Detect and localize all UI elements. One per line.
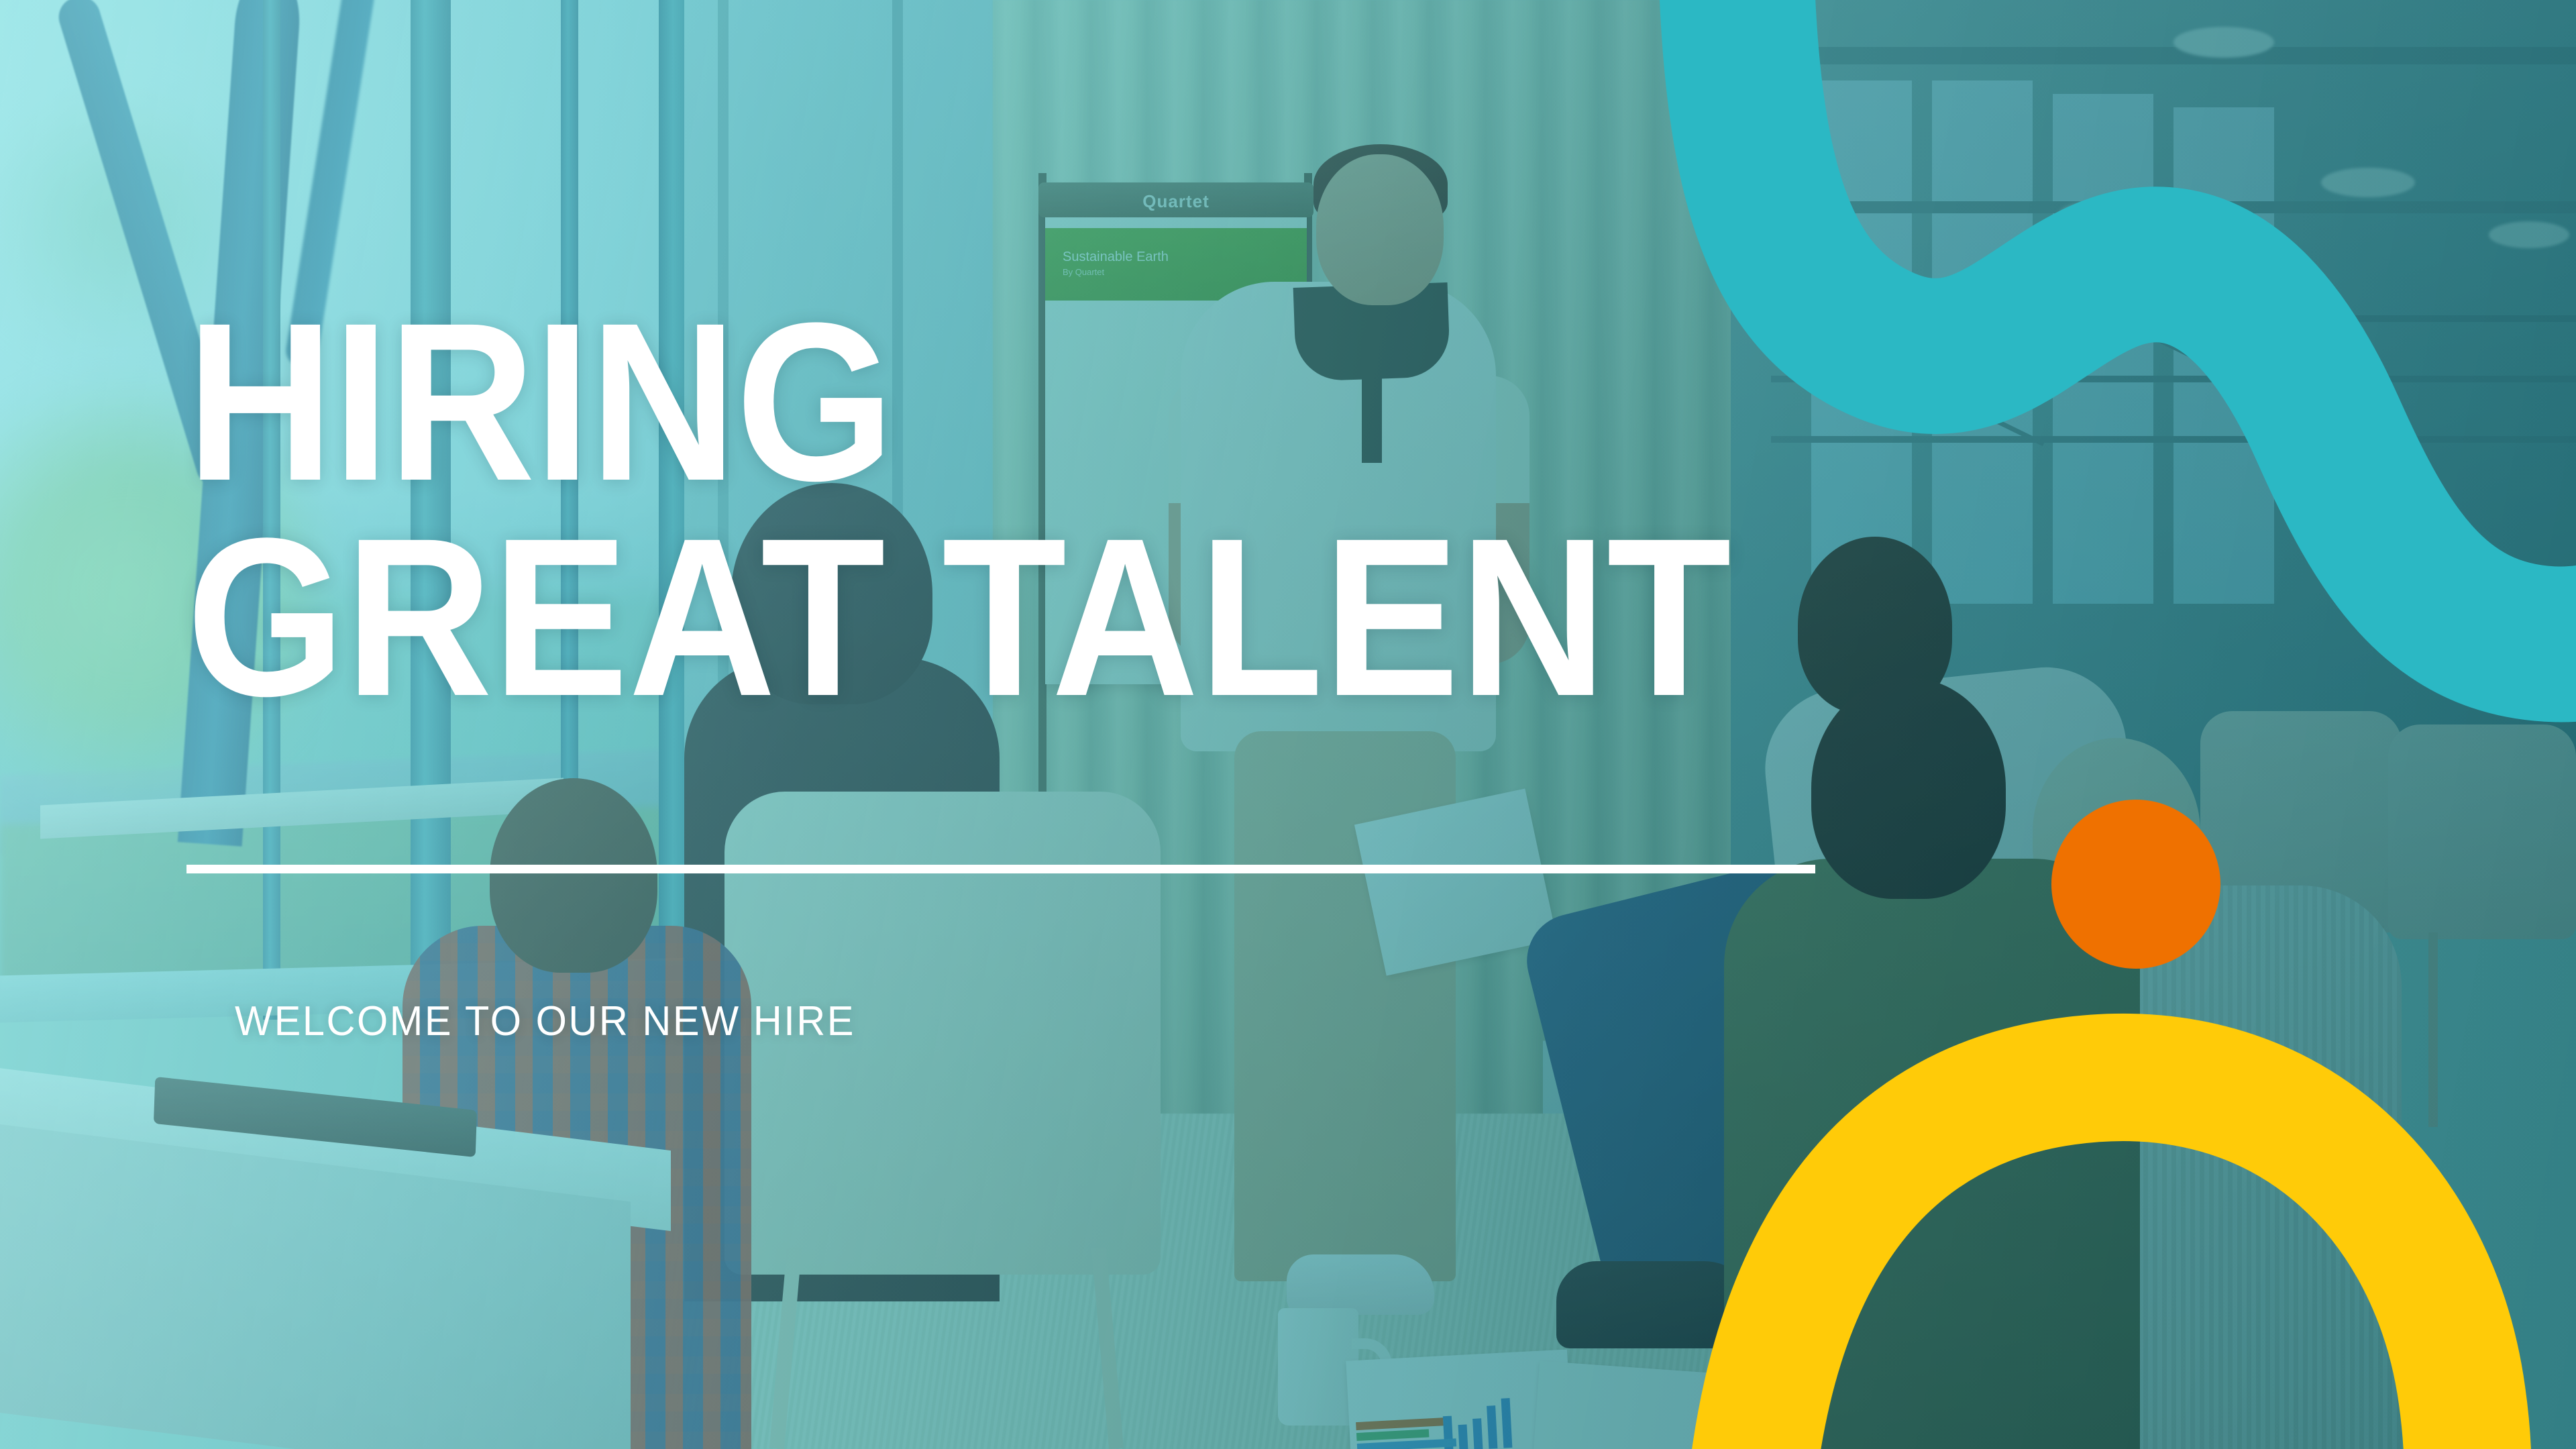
headline-line-2: GREAT TALENT (186, 511, 1731, 726)
divider-rule (186, 865, 1815, 873)
headline-line-1: HIRING (186, 276, 893, 528)
poster-text-block: HIRINGGREAT TALENT WELCOME TO OUR NEW HI… (0, 0, 2576, 1449)
poster-subtitle: WELCOME TO OUR NEW HIRE (235, 998, 855, 1045)
hiring-poster: Quartet Sustainable Earth By Quartet (0, 0, 2576, 1449)
page-title: HIRINGGREAT TALENT (186, 295, 1731, 726)
